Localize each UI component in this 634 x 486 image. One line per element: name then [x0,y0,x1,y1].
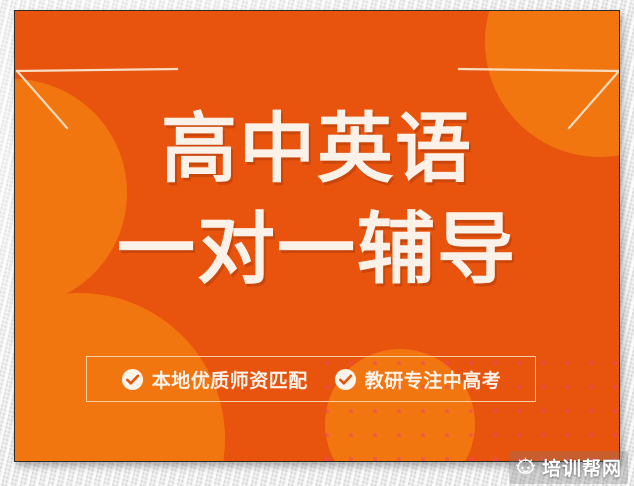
check-circle-icon [334,368,357,391]
poster-panel: 高中英语 一对一辅导 本地优质师资匹配 教研专注中高考 [14,10,620,462]
feature-label-2: 教研专注中高考 [365,366,502,393]
feature-label-1: 本地优质师资匹配 [152,366,308,393]
headline-line-1: 高中英语 [15,111,619,187]
sun-face-icon [515,457,536,478]
line-top-right-diagonal [569,71,619,128]
feature-item-2: 教研专注中高考 [334,366,502,393]
headline-line-2: 一对一辅导 [15,211,619,289]
watermark: 培训帮网 [509,451,628,484]
feature-item-1: 本地优质师资匹配 [121,366,308,393]
check-circle-icon [121,368,144,391]
poster-root: 高中英语 一对一辅导 本地优质师资匹配 教研专注中高考 [0,0,634,486]
line-top-left-horizontal [17,69,177,71]
line-top-right-horizontal [459,69,619,71]
decor-circle-top-left [14,79,127,307]
decor-circle-top-right [485,10,620,157]
headline-block: 高中英语 一对一辅导 [15,111,619,289]
feature-badge-box: 本地优质师资匹配 教研专注中高考 [86,356,536,402]
watermark-text: 培训帮网 [542,454,622,481]
line-top-left-diagonal [17,71,67,128]
